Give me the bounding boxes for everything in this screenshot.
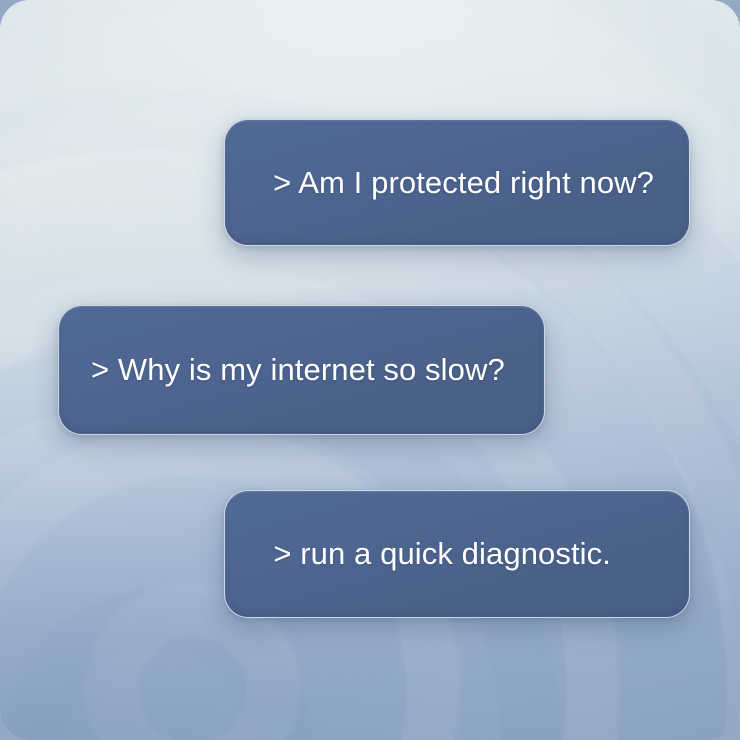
chat-bubble-text: > run a quick diagnostic. [273, 536, 611, 572]
chat-bubble-internet-slow[interactable]: > Why is my internet so slow? [58, 305, 545, 435]
chat-bubble-run-diagnostic[interactable]: > run a quick diagnostic. [224, 490, 690, 618]
chat-bubble-text: > Am I protected right now? [273, 165, 654, 201]
chat-canvas: > Am I protected right now? > Why is my … [0, 0, 740, 740]
chat-bubble-protected[interactable]: > Am I protected right now? [224, 119, 690, 246]
chat-bubble-text: > Why is my internet so slow? [91, 352, 505, 388]
